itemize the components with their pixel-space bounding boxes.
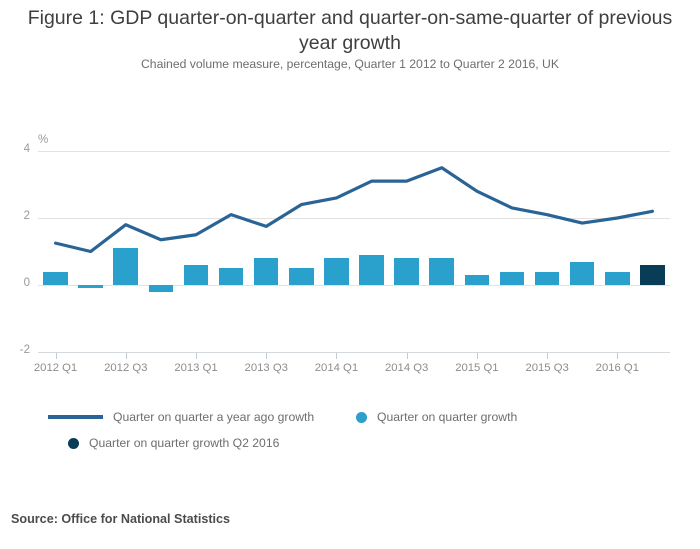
- x-tick-mark: [126, 353, 127, 359]
- x-tick-label-2012-Q3: 2012 Q3: [104, 362, 147, 374]
- bar-2012-Q3[interactable]: [113, 248, 138, 285]
- x-tick-label-2015-Q1: 2015 Q1: [455, 362, 498, 374]
- legend: Quarter on quarter a year ago growth Qua…: [40, 404, 660, 464]
- x-tick-label-2013-Q3: 2013 Q3: [245, 362, 288, 374]
- dot-swatch-icon: [356, 412, 367, 423]
- x-tick-label-2014-Q1: 2014 Q1: [315, 362, 358, 374]
- plot-area: [38, 151, 670, 352]
- bar-2013-Q3[interactable]: [254, 258, 279, 285]
- legend-label: Quarter on quarter a year ago growth: [113, 410, 314, 424]
- legend-label: Quarter on quarter growth: [377, 410, 517, 424]
- x-tick-label-2016-Q1: 2016 Q1: [596, 362, 639, 374]
- y-tick-label-0: 0: [0, 277, 30, 289]
- x-axis-line: [38, 352, 670, 353]
- legend-item-qoq-growth-q2-2016[interactable]: Quarter on quarter growth Q2 2016: [68, 436, 279, 450]
- x-tick-mark: [336, 353, 337, 359]
- x-tick-label-2015-Q3: 2015 Q3: [525, 362, 568, 374]
- bar-2014-Q4[interactable]: [429, 258, 454, 285]
- chart-subtitle: Chained volume measure, percentage, Quar…: [22, 57, 678, 71]
- line-swatch-icon: [48, 415, 103, 419]
- bar-2016-Q2[interactable]: [640, 265, 665, 285]
- bar-2014-Q3[interactable]: [394, 258, 419, 285]
- bar-2015-Q1[interactable]: [465, 275, 490, 285]
- bar-2014-Q1[interactable]: [324, 258, 349, 285]
- legend-item-year-ago-growth[interactable]: Quarter on quarter a year ago growth: [48, 410, 314, 424]
- x-tick-label-2014-Q3: 2014 Q3: [385, 362, 428, 374]
- y-axis-unit-label: %: [38, 134, 48, 146]
- gdp-growth-figure: Figure 1: GDP quarter-on-quarter and qua…: [0, 0, 700, 549]
- x-tick-mark: [617, 353, 618, 359]
- source-note: Source: Office for National Statistics: [11, 512, 230, 526]
- bar-2016-Q1[interactable]: [605, 272, 630, 285]
- bar-2013-Q1[interactable]: [184, 265, 209, 285]
- x-tick-mark: [547, 353, 548, 359]
- y-tick-label-4: 4: [0, 143, 30, 155]
- legend-item-qoq-growth[interactable]: Quarter on quarter growth: [356, 410, 517, 424]
- x-tick-mark: [56, 353, 57, 359]
- page-title: Figure 1: GDP quarter-on-quarter and qua…: [22, 6, 678, 56]
- dot-swatch-dark-icon: [68, 438, 79, 449]
- bar-2015-Q4[interactable]: [570, 262, 595, 285]
- bars-group: [38, 151, 670, 352]
- x-tick-label-2012-Q1: 2012 Q1: [34, 362, 77, 374]
- bar-2012-Q2[interactable]: [78, 285, 103, 288]
- bar-2015-Q3[interactable]: [535, 272, 560, 285]
- x-tick-mark: [477, 353, 478, 359]
- bar-2015-Q2[interactable]: [500, 272, 525, 285]
- bar-2012-Q4[interactable]: [149, 285, 174, 292]
- bar-2013-Q2[interactable]: [219, 268, 244, 285]
- x-tick-label-2013-Q1: 2013 Q1: [174, 362, 217, 374]
- bar-2014-Q2[interactable]: [359, 255, 384, 285]
- x-tick-mark: [266, 353, 267, 359]
- y-tick-label-2: 2: [0, 210, 30, 222]
- bar-2012-Q1[interactable]: [43, 272, 68, 285]
- bar-2013-Q4[interactable]: [289, 268, 314, 285]
- x-tick-mark: [407, 353, 408, 359]
- y-tick-label--2: -2: [0, 344, 30, 356]
- x-tick-mark: [196, 353, 197, 359]
- legend-label: Quarter on quarter growth Q2 2016: [89, 436, 279, 450]
